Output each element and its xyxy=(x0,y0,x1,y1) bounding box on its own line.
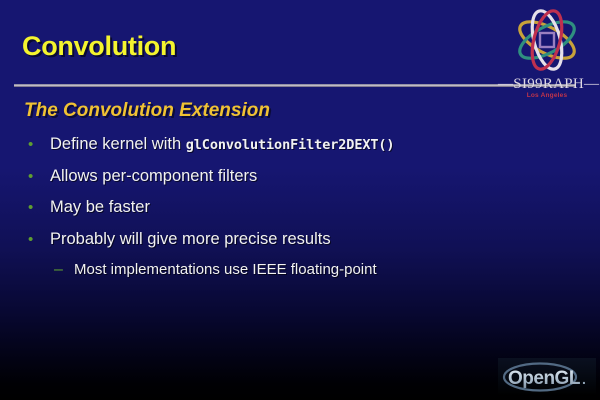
siggraph-wordmark: —SI99RAPH— xyxy=(498,76,596,93)
list-item-label: Define kernel with xyxy=(50,135,186,153)
bullet-list: • Define kernel with glConvolutionFilter… xyxy=(28,134,573,285)
list-item: • Probably will give more precise result… xyxy=(28,229,573,250)
opengl-logo: OpenGL . xyxy=(498,358,596,396)
svg-text:OpenGL: OpenGL xyxy=(508,368,581,389)
siggraph-logo: —SI99RAPH— Los Angeles xyxy=(498,4,596,106)
slide-canvas: Convolution The Convolution Extension • … xyxy=(0,0,600,400)
list-item: • May be faster xyxy=(28,197,573,218)
list-item-label: May be faster xyxy=(50,197,573,218)
sub-list-item: – Most implementations use IEEE floating… xyxy=(54,261,573,280)
bullet-dash-icon: – xyxy=(54,262,74,278)
list-item-label: Allows per-component filters xyxy=(50,166,573,187)
siggraph-city-label: Los Angeles xyxy=(498,92,596,99)
list-item: • Allows per-component filters xyxy=(28,166,573,187)
title-divider xyxy=(14,84,576,87)
sub-list-item-label: Most implementations use IEEE floating-p… xyxy=(74,261,573,280)
bullet-dot-icon: • xyxy=(28,137,50,152)
opengl-logo-icon: OpenGL . xyxy=(498,358,596,396)
bullet-dot-icon: • xyxy=(28,169,50,184)
bullet-dot-icon: • xyxy=(28,200,50,215)
bullet-dot-icon: • xyxy=(28,232,50,247)
siggraph-rings-icon xyxy=(506,4,588,76)
list-item-text: Define kernel with glConvolutionFilter2D… xyxy=(50,134,573,155)
section-subtitle: The Convolution Extension xyxy=(24,100,270,122)
list-item-label: Probably will give more precise results xyxy=(50,229,573,250)
list-item: • Define kernel with glConvolutionFilter… xyxy=(28,134,573,155)
code-literal: glConvolutionFilter2DEXT() xyxy=(186,137,395,153)
svg-text:.: . xyxy=(582,371,586,387)
page-title: Convolution xyxy=(22,31,176,62)
